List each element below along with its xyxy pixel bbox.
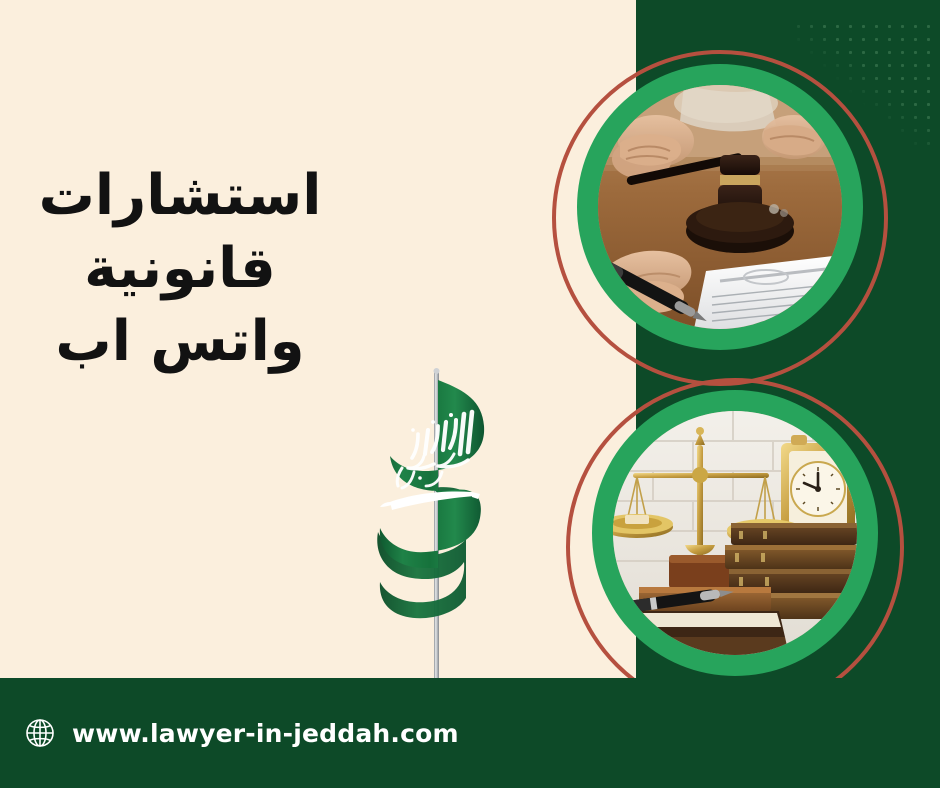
scales-photo-image xyxy=(613,411,857,655)
page-title-line-2: قانونية xyxy=(0,233,360,306)
page-title: استشارات قانونية واتس اب xyxy=(0,160,360,378)
page-title-line-3: واتس اب xyxy=(0,306,360,379)
gavel-signing-photo xyxy=(577,64,863,350)
saudi-arabia-flag xyxy=(368,368,508,686)
website-url[interactable]: www.lawyer-in-jeddah.com xyxy=(72,719,459,748)
footer-bar: www.lawyer-in-jeddah.com xyxy=(0,678,940,788)
gavel-photo-image xyxy=(598,85,842,329)
legal-consultation-poster: استشارات قانونية واتس اب xyxy=(0,0,940,788)
page-title-line-1: استشارات xyxy=(0,160,360,233)
globe-icon xyxy=(24,717,56,749)
scales-books-clock-photo xyxy=(592,390,878,676)
